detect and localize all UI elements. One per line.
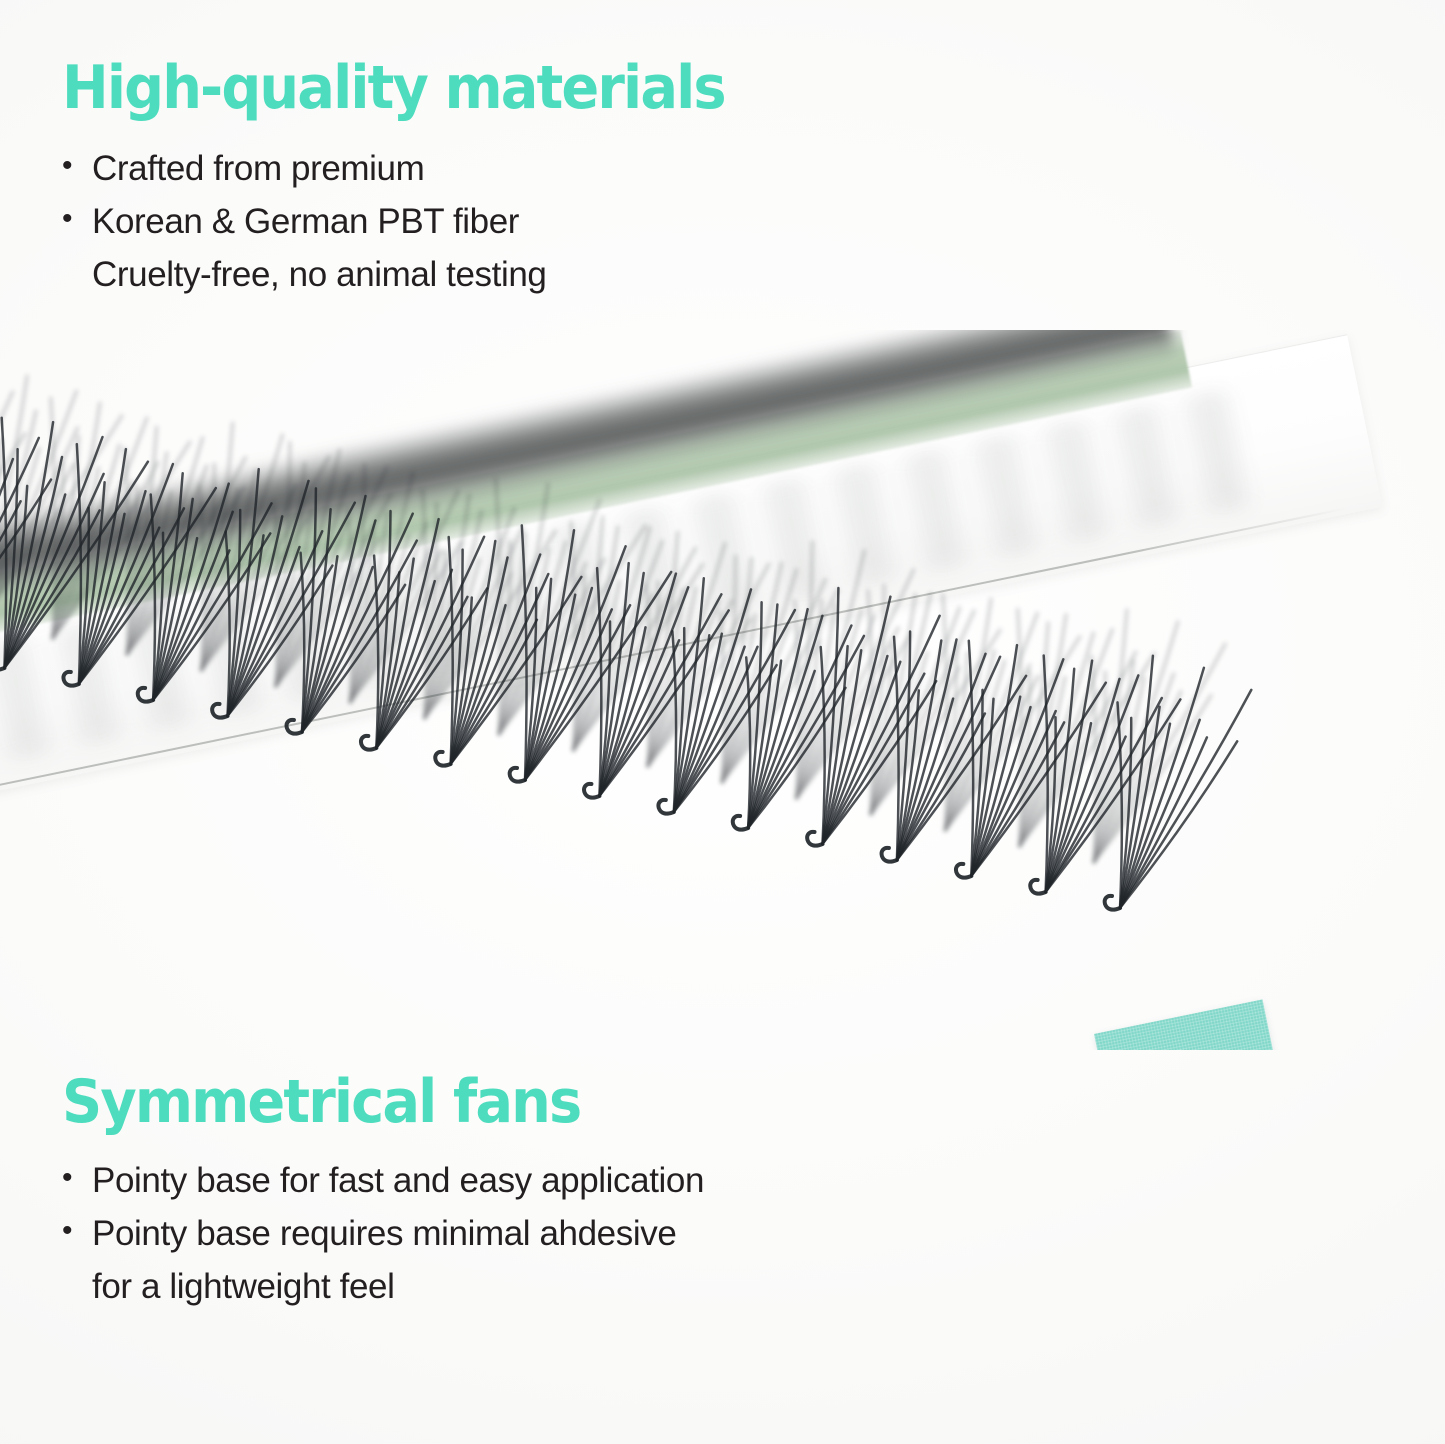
list-item-label: Pointy base requires minimal ahdesive [92, 1207, 676, 1260]
bullet-list-top: • Crafted from premium • Korean & German… [62, 142, 775, 302]
bullet-marker: • [62, 1154, 92, 1202]
heading-symmetrical-fans: Symmetrical fans [62, 1072, 659, 1132]
product-photo: 2 [0, 330, 1445, 1050]
poster-canvas: 2 High-quality materials • Crafted from … [0, 0, 1445, 1444]
list-item: • Pointy base for fast and easy applicat… [62, 1154, 704, 1207]
list-item-label: for a lightweight feel [92, 1260, 395, 1313]
lash-fans [0, 330, 1445, 1050]
lash-fans-foreground [0, 330, 1445, 1050]
section-high-quality-materials: High-quality materials • Crafted from pr… [62, 58, 775, 302]
list-item: Cruelty-free, no animal testing [62, 248, 775, 301]
bullet-marker: • [62, 142, 92, 190]
section-symmetrical-fans: Symmetrical fans • Pointy base for fast … [62, 1072, 704, 1314]
bullet-marker: • [62, 195, 92, 243]
heading-high-quality-materials: High-quality materials [62, 58, 725, 118]
list-item-label: Crafted from premium [92, 142, 424, 195]
list-item: for a lightweight feel [62, 1260, 704, 1313]
list-item-label: Korean & German PBT fiber [92, 195, 519, 248]
list-item-label: Cruelty-free, no animal testing [92, 248, 546, 301]
bullet-marker: • [62, 1207, 92, 1255]
list-item: • Korean & German PBT fiber [62, 195, 775, 248]
bullet-list-bottom: • Pointy base for fast and easy applicat… [62, 1154, 704, 1314]
list-item: • Pointy base requires minimal ahdesive [62, 1207, 704, 1260]
list-item: • Crafted from premium [62, 142, 775, 195]
list-item-label: Pointy base for fast and easy applicatio… [92, 1154, 704, 1207]
